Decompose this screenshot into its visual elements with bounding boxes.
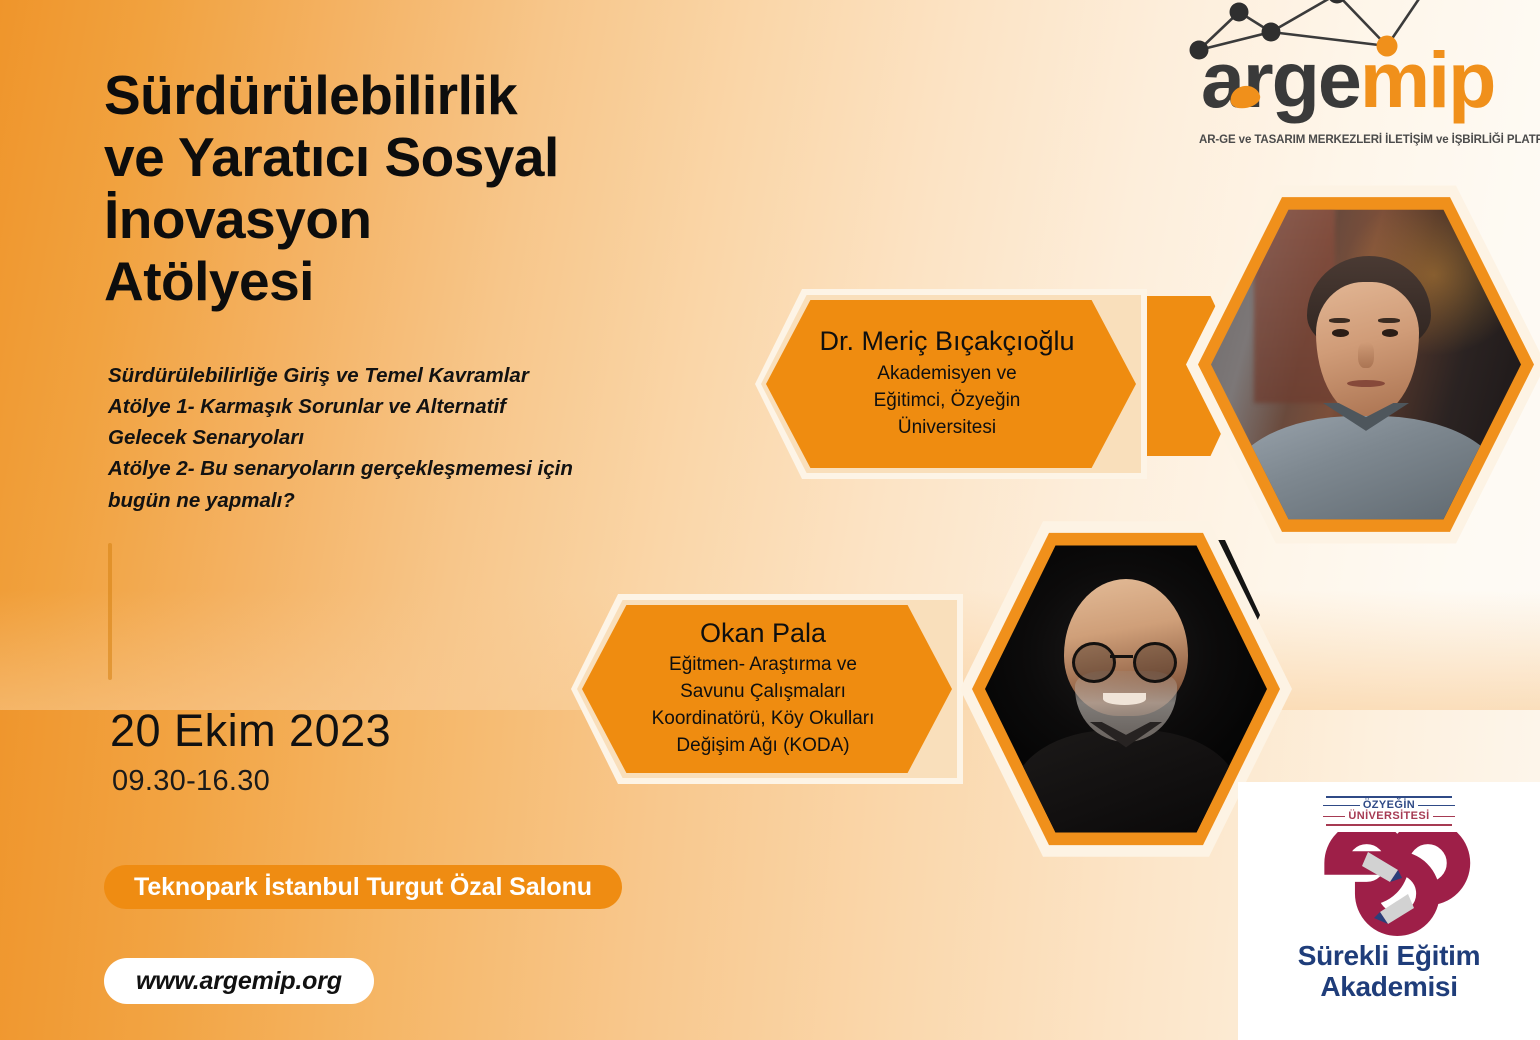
title-line-1: Sürdürülebilirlik: [104, 64, 864, 126]
partner-logo-ozyegin-sea: ÖZYEĞİN ÜNİVERSİTESİ Sürekli Eğitim: [1238, 782, 1540, 1040]
ozyegin-university-mark: ÖZYEĞİN ÜNİVERSİTESİ: [1323, 796, 1455, 826]
event-time: 09.30-16.30: [112, 765, 270, 798]
sea-academy-title: Sürekli Eğitim Akademisi: [1298, 940, 1481, 1003]
logo-text-mip: mip: [1360, 35, 1494, 124]
speaker-1-role-line-1: Akademisyen ve: [877, 361, 1016, 388]
speaker-1-name: Dr. Meriç Bıçakçıoğlu: [819, 326, 1074, 358]
sea-title-line-2: Akademisi: [1298, 971, 1481, 1002]
infinity-pencil-icon: [1282, 832, 1496, 936]
event-poster: argemip AR-GE ve TASARIM MERKEZLERİ İLET…: [0, 0, 1540, 1040]
title-line-3: İnovasyon: [104, 188, 864, 250]
argemip-tagline: AR-GE ve TASARIM MERKEZLERİ İLETİŞİM ve …: [1199, 134, 1540, 146]
speaker-2-role-line-2: Savunu Çalışmaları: [680, 679, 846, 706]
speaker-2-role-line-4: Değişim Ağı (KODA): [676, 733, 849, 760]
speaker-1-role-line-2: Eğitimci, Özyeğin: [874, 388, 1021, 415]
speaker-card-2: Okan Pala Eğitmen- Araştırma ve Savunu Ç…: [582, 605, 952, 773]
program-outline: Sürdürülebilirliğe Giriş ve Temel Kavram…: [108, 360, 728, 516]
sea-title-line-1: Sürekli Eğitim: [1298, 940, 1481, 971]
program-line-2: Atölye 1- Karmaşık Sorunlar ve Alternati…: [108, 391, 728, 422]
portrait-meric-bicakcioglu: [1211, 205, 1521, 524]
title-line-4: Atölyesi: [104, 250, 864, 312]
event-date: 20 Ekim 2023: [110, 705, 391, 757]
venue-badge: Teknopark İstanbul Turgut Özal Salonu: [104, 865, 622, 909]
speaker-1-role-line-3: Üniversitesi: [898, 415, 996, 442]
page-title: Sürdürülebilirlik ve Yaratıcı Sosyal İno…: [104, 64, 864, 313]
program-line-1: Sürdürülebilirliğe Giriş ve Temel Kavram…: [108, 360, 728, 391]
portrait-okan-pala: [985, 541, 1267, 837]
website-badge[interactable]: www.argemip.org: [104, 958, 374, 1004]
argemip-logo: argemip AR-GE ve TASARIM MERKEZLERİ İLET…: [1187, 0, 1532, 160]
avatar: [985, 541, 1267, 837]
speaker-card-2-body: Okan Pala Eğitmen- Araştırma ve Savunu Ç…: [582, 605, 952, 773]
speaker-card-1: Dr. Meriç Bıçakçıoğlu Akademisyen ve Eği…: [766, 300, 1136, 468]
logo-text-arge: arge: [1201, 35, 1360, 124]
speaker-2-name: Okan Pala: [700, 618, 826, 650]
program-line-5: bugün ne yapmalı?: [108, 485, 728, 516]
ozyegin-line-2: ÜNİVERSİTESİ: [1348, 811, 1429, 822]
avatar: [1211, 205, 1521, 524]
speaker-2-role-line-3: Koordinatörü, Köy Okulları: [652, 706, 875, 733]
program-line-3: Gelecek Senaryoları: [108, 422, 728, 453]
decorative-divider: [108, 543, 112, 680]
speaker-2-role-line-1: Eğitmen- Araştırma ve: [669, 652, 857, 679]
speaker-card-1-body: Dr. Meriç Bıçakçıoğlu Akademisyen ve Eği…: [766, 300, 1136, 468]
program-line-4: Atölye 2- Bu senaryoların gerçekleşmemes…: [108, 453, 728, 484]
title-line-2: ve Yaratıcı Sosyal: [104, 126, 864, 188]
